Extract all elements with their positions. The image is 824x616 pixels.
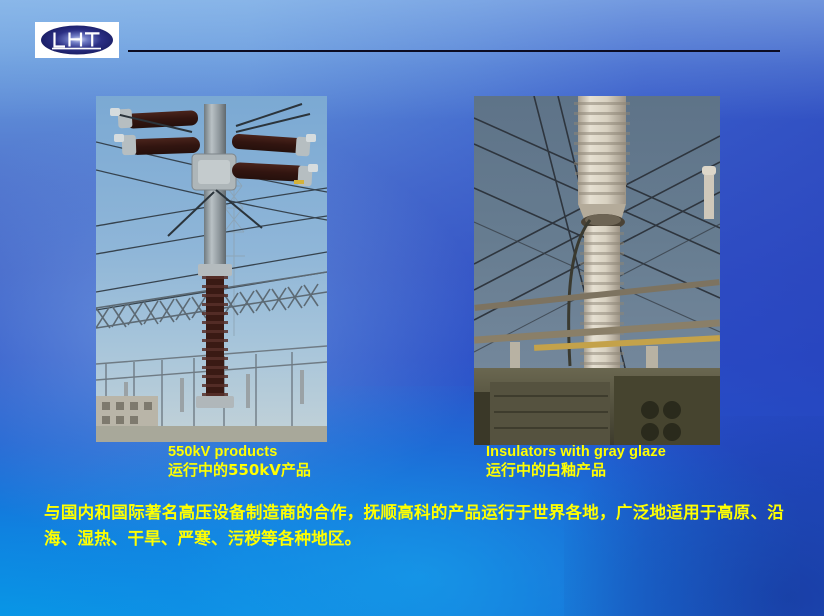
caption-550kv-english: 550kV products bbox=[168, 444, 311, 461]
caption-gray-glaze-chinese: 运行中的白釉产品 bbox=[486, 462, 666, 479]
lht-logo-icon bbox=[35, 22, 119, 58]
photo-gray-glaze-insulators-image bbox=[474, 96, 720, 445]
header-divider bbox=[128, 50, 780, 52]
photo-550kv-products-image bbox=[96, 96, 327, 442]
photo-gray-glaze-insulators bbox=[474, 96, 720, 445]
caption-550kv-chinese: 运行中的550kV产品 bbox=[168, 462, 311, 479]
lht-logo bbox=[35, 22, 119, 58]
photo-550kv-products bbox=[96, 96, 327, 442]
caption-gray-glaze: Insulators with gray glaze 运行中的白釉产品 bbox=[486, 444, 666, 479]
body-paragraph: 与国内和国际著名高压设备制造商的合作，抚顺高科的产品运行于世界各地，广泛地适用于… bbox=[44, 500, 784, 551]
caption-gray-glaze-english: Insulators with gray glaze bbox=[486, 444, 666, 461]
caption-550kv: 550kV products 运行中的550kV产品 bbox=[168, 444, 311, 479]
slide-canvas: 550kV products 运行中的550kV产品 Insulators wi… bbox=[0, 0, 824, 616]
